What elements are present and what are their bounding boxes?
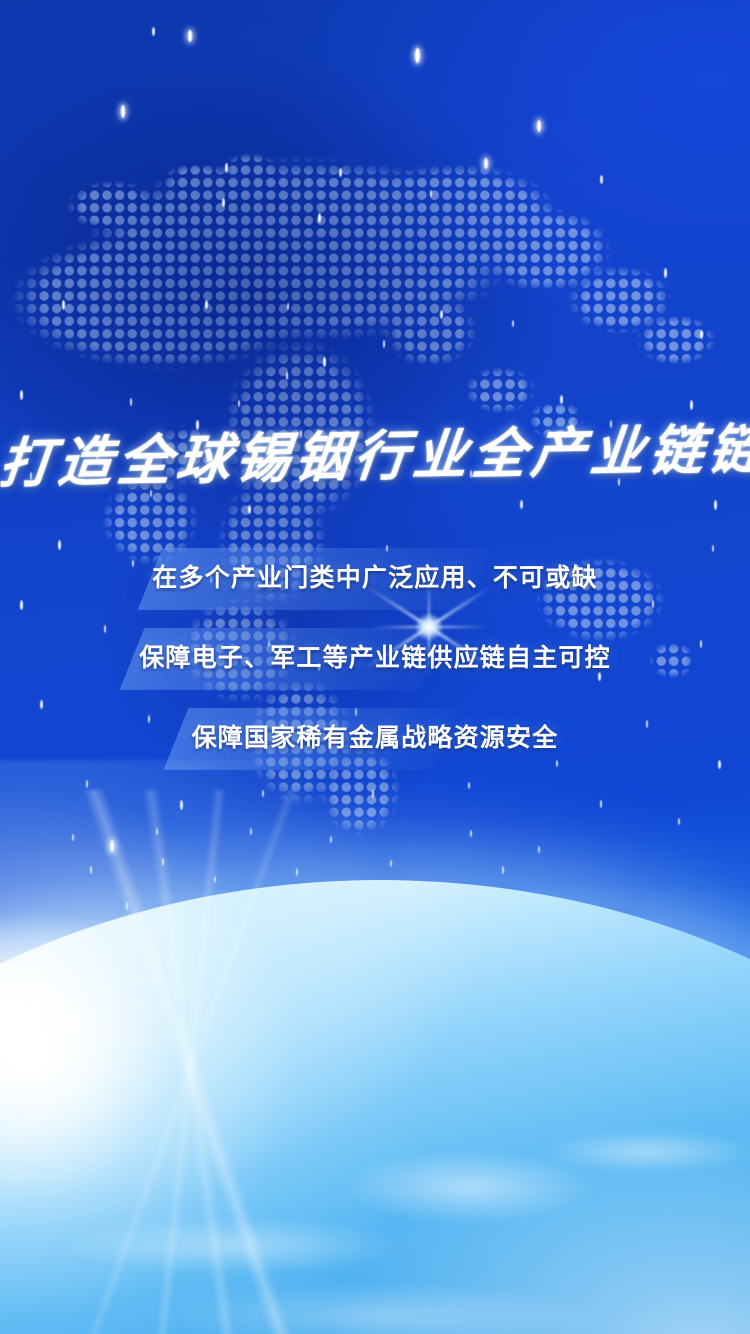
sun-rays-icon [0, 790, 500, 1334]
star-sparkle-icon [225, 163, 228, 173]
star-sparkle-icon [121, 105, 125, 118]
star-sparkle-icon [600, 175, 603, 184]
star-sparkle-icon [560, 395, 563, 404]
star-sparkle-icon [678, 818, 680, 825]
star-sparkle-icon [520, 500, 523, 509]
star-sparkle-icon [556, 760, 558, 767]
star-sparkle-icon [104, 625, 106, 633]
poster-canvas: 打造全球锡铟行业全产业链链主 在多个产业门类中广泛应用、不可或缺 保障电子、军工… [0, 0, 750, 1334]
star-sparkle-icon [537, 120, 541, 132]
star-sparkle-icon [712, 545, 714, 552]
star-sparkle-icon [714, 500, 717, 510]
star-sparkle-icon [700, 330, 703, 339]
star-sparkle-icon [222, 198, 225, 207]
subtitle-line-3: 保障国家稀有金属战略资源安全 [0, 721, 750, 755]
star-sparkle-icon [512, 320, 514, 327]
star-sparkle-icon [248, 505, 251, 514]
star-sparkle-icon [383, 340, 385, 348]
star-sparkle-icon [652, 600, 654, 608]
page-title: 打造全球锡铟行业全产业链链主 [0, 411, 750, 503]
star-sparkle-icon [205, 300, 208, 309]
star-sparkle-icon [58, 540, 61, 550]
star-sparkle-icon [600, 800, 602, 808]
star-sparkle-icon [440, 310, 443, 319]
subtitle-line-2: 保障电子、军工等产业链供应链自主可控 [0, 641, 750, 675]
star-sparkle-icon [664, 268, 667, 278]
star-sparkle-icon [323, 357, 326, 367]
star-sparkle-icon [62, 300, 65, 310]
star-sparkle-icon [152, 27, 155, 36]
star-sparkle-icon [20, 390, 23, 400]
star-sparkle-icon [318, 213, 321, 223]
star-sparkle-icon [339, 168, 342, 177]
star-sparkle-icon [130, 398, 132, 406]
star-sparkle-icon [286, 372, 288, 380]
star-sparkle-icon [430, 190, 432, 197]
star-sparkle-icon [40, 700, 43, 709]
star-sparkle-icon [718, 760, 721, 769]
star-sparkle-icon [415, 48, 420, 63]
star-sparkle-icon [238, 400, 240, 407]
subtitle-line-1: 在多个产业门类中广泛应用、不可或缺 [0, 561, 750, 595]
star-sparkle-icon [188, 30, 192, 42]
star-sparkle-icon [690, 400, 693, 410]
star-sparkle-icon [484, 158, 488, 169]
star-sparkle-icon [20, 600, 23, 610]
star-sparkle-icon [287, 303, 289, 310]
